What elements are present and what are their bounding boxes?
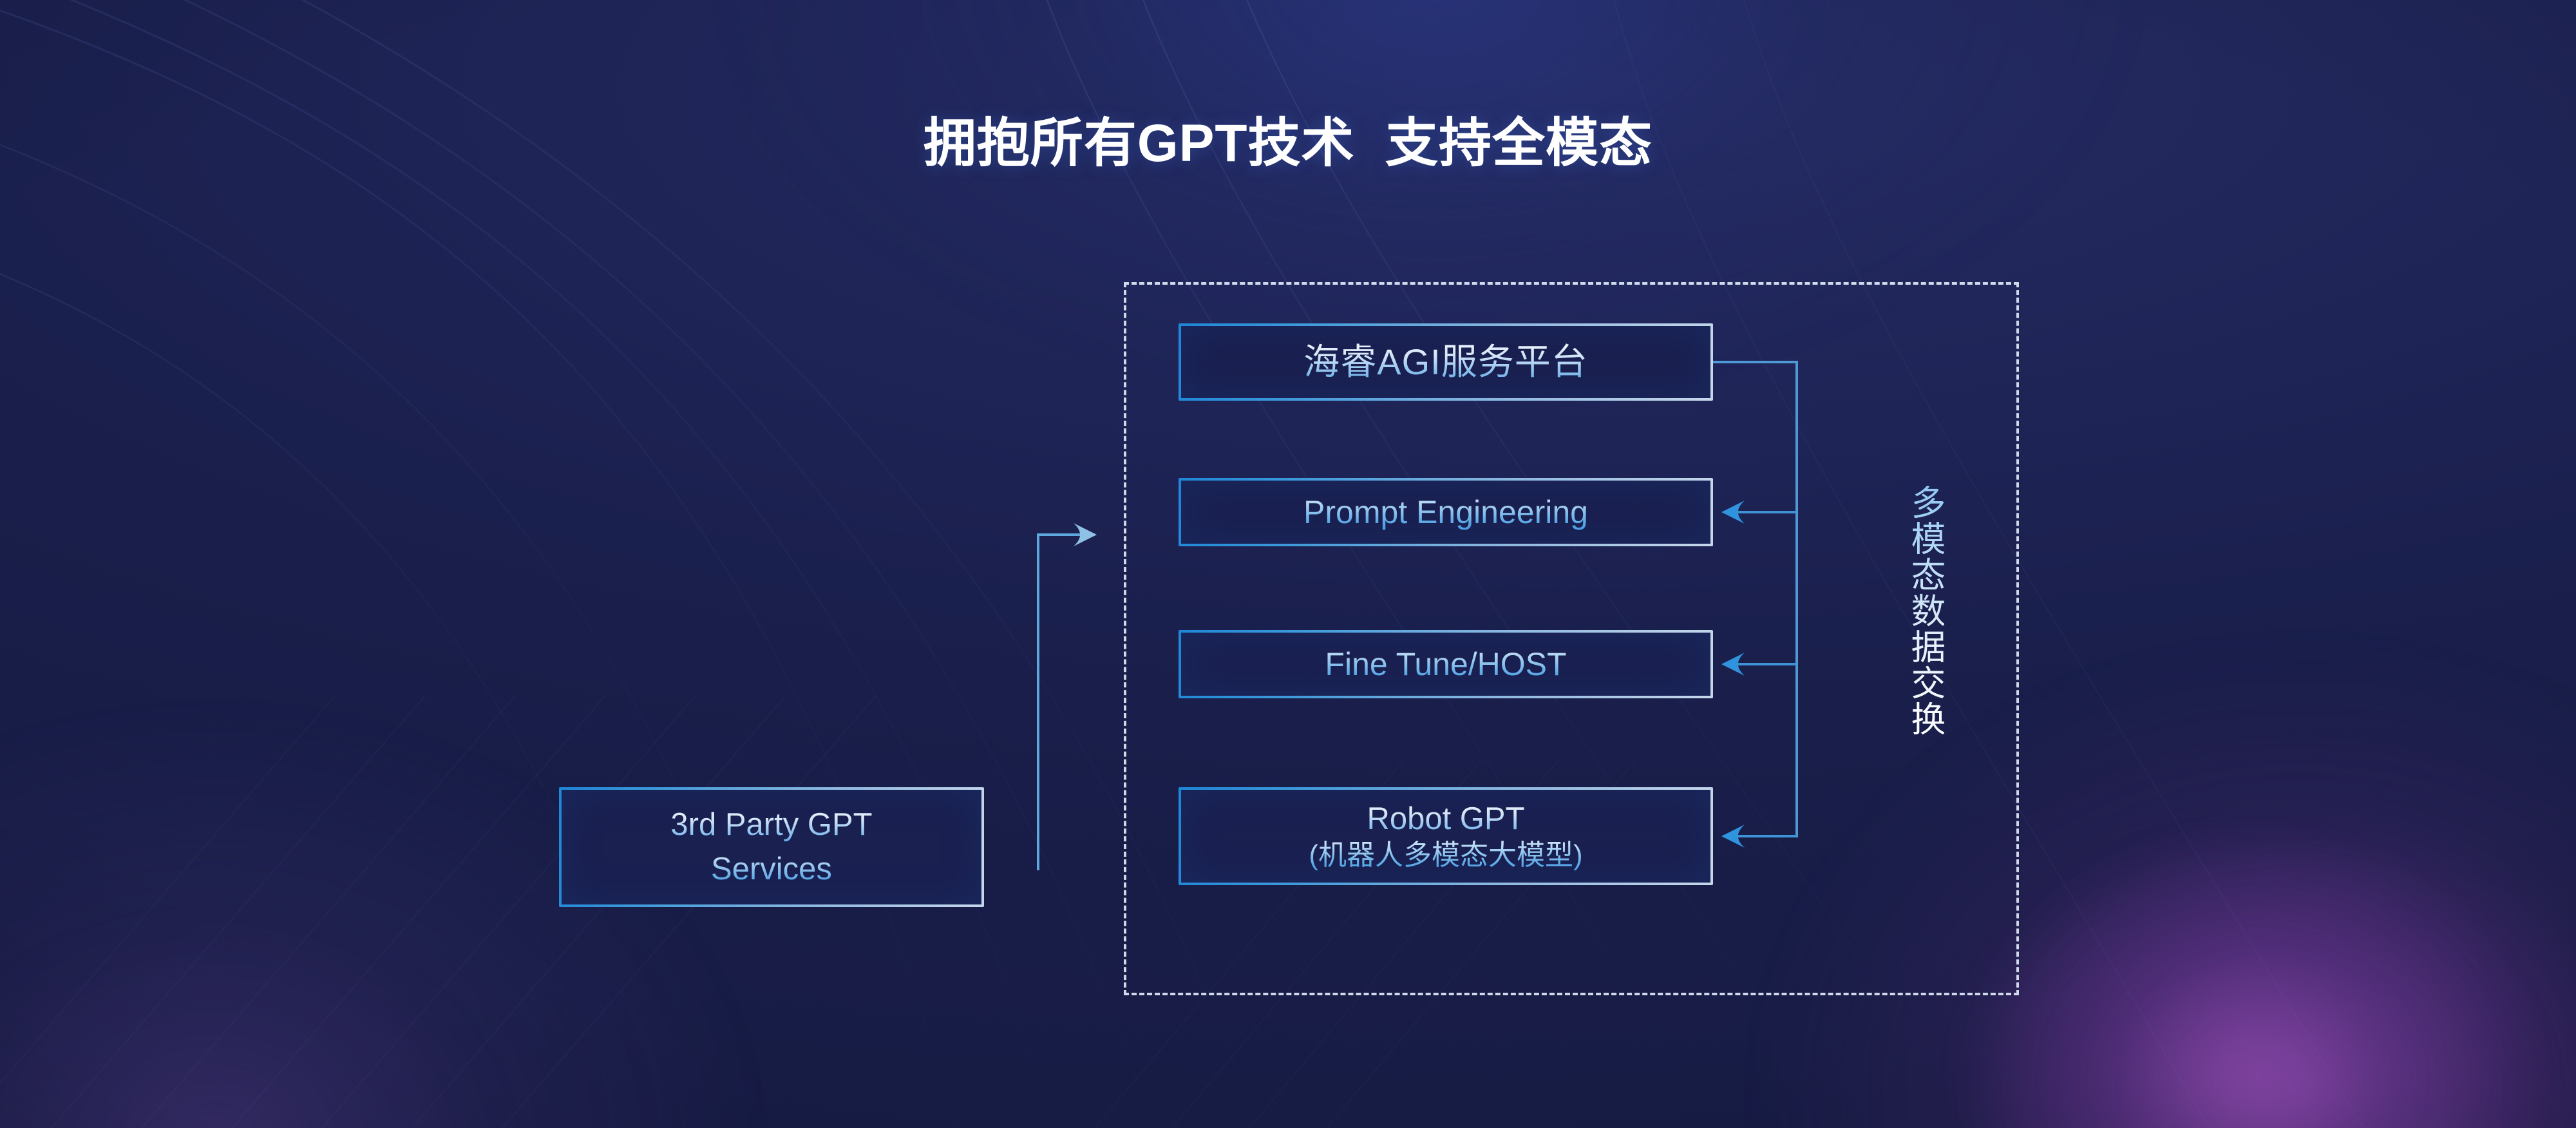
node-robot-gpt-sublabel: (机器人多模态大模型) (1309, 839, 1582, 871)
node-prompt-engineering-label: Prompt Engineering (1303, 494, 1588, 530)
slide-canvas: 拥抱所有GPT技术 支持全模态 海睿AGI服务平台 (0, 0, 2576, 1128)
node-third-party-gpt[interactable]: 3rd Party GPT Services (559, 787, 984, 907)
node-third-party-gpt-label: 3rd Party GPT (670, 807, 872, 843)
node-fine-tune-host-label: Fine Tune/HOST (1325, 646, 1566, 682)
node-fine-tune-host[interactable]: Fine Tune/HOST (1179, 630, 1713, 698)
node-robot-gpt-label: Robot GPT (1367, 801, 1524, 837)
node-third-party-gpt-sublabel: Services (711, 852, 832, 887)
node-prompt-engineering[interactable]: Prompt Engineering (1179, 478, 1713, 546)
annotation-data-exchange: 多模态数据交换 (1903, 484, 1944, 737)
page-title: 拥抱所有GPT技术 支持全模态 (0, 115, 2576, 173)
node-agi-platform-label: 海睿AGI服务平台 (1303, 342, 1587, 383)
node-agi-platform[interactable]: 海睿AGI服务平台 (1179, 323, 1713, 401)
node-robot-gpt[interactable]: Robot GPT (机器人多模态大模型) (1179, 787, 1713, 885)
